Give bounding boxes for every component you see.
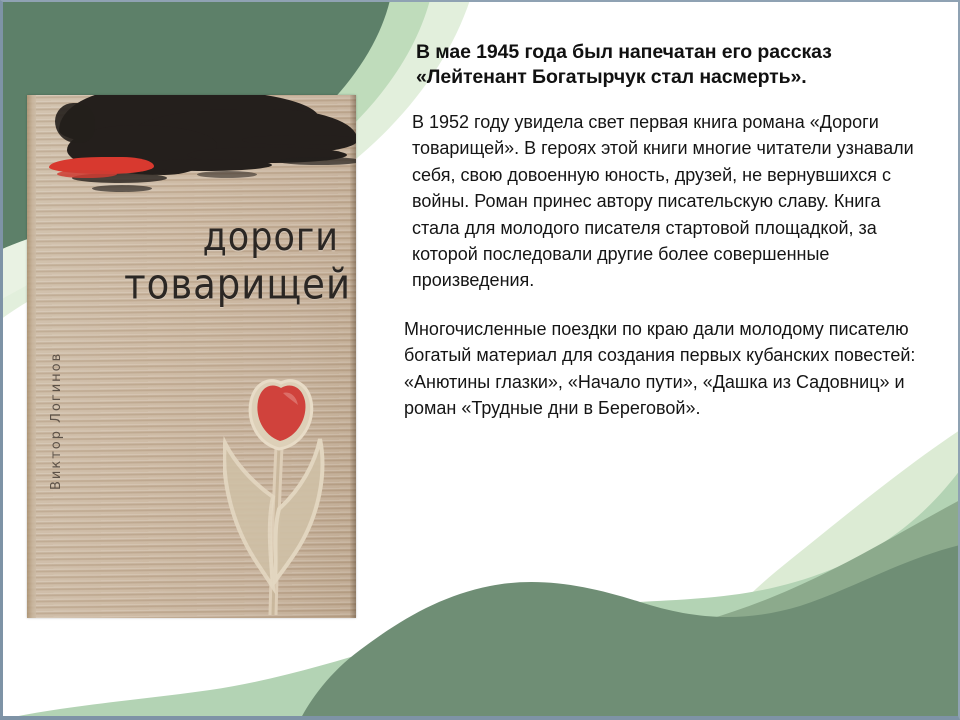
book-cover-title: дороги товарищей: [41, 223, 351, 305]
book-cover-author: Виктор Логинов: [49, 270, 64, 490]
book-spine-edge: [27, 95, 36, 618]
tulip-leaf-left: [224, 443, 273, 587]
book-cover-title-line-2: товарищей: [41, 264, 351, 305]
presentation-slide: дороги товарищей Виктор Логинов В мае 19…: [0, 0, 960, 720]
cover-black-brushwork: [37, 95, 356, 215]
slide-paragraph-1: В 1952 году увидела свет первая книга ро…: [412, 109, 920, 294]
cover-tulip-illustration: [223, 377, 356, 615]
slide-text-column: В мае 1945 года был напечатан его расска…: [400, 40, 920, 440]
book-cover-image: дороги товарищей Виктор Логинов: [27, 95, 356, 618]
cover-red-brushstroke-secondary: [57, 170, 117, 178]
book-cover-title-line-1: дороги: [41, 219, 351, 258]
slide-paragraph-2: Многочисленные поездки по краю дали моло…: [404, 316, 920, 422]
slide-headline: В мае 1945 года был напечатан его расска…: [416, 40, 920, 91]
